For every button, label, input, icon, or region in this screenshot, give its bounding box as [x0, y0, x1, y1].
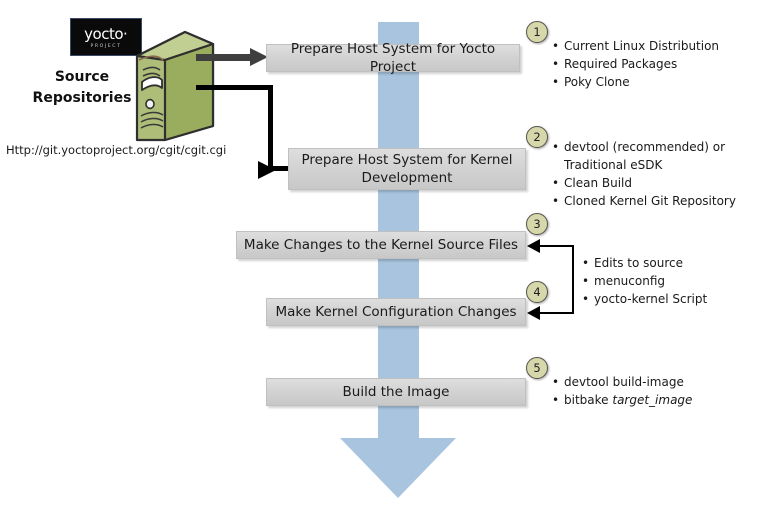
process-box-build-image[interactable]: Build the Image	[266, 378, 526, 406]
arrowhead-box4-icon	[527, 306, 540, 320]
note-command-prefix: bitbake	[564, 393, 612, 407]
flow-arrow-head-icon	[340, 438, 456, 498]
step-circle-5: 5	[526, 357, 548, 379]
notes-step-2: devtool (recommended) or Traditional eSD…	[552, 138, 764, 210]
note-item: Poky Clone	[552, 73, 719, 91]
step-circle-2: 2	[526, 126, 548, 148]
logo-subtitle: PROJECT	[90, 45, 121, 50]
note-item: bitbake target_image	[552, 391, 692, 409]
source-label-line1: Source	[28, 67, 136, 88]
note-item: Required Packages	[552, 55, 719, 73]
step-circle-4: 4	[526, 281, 548, 303]
note-item: devtool build-image	[552, 373, 692, 391]
source-repository-url: Http://git.yoctoproject.org/cgit/cgit.cg…	[6, 143, 226, 157]
process-box-make-source-changes[interactable]: Make Changes to the Kernel Source Files	[236, 231, 526, 259]
connector-server-to-box2-segment1	[196, 85, 273, 90]
process-box-make-config-changes[interactable]: Make Kernel Configuration Changes	[266, 298, 526, 326]
notes-step-3-4: Edits to source menuconfig yocto-kernel …	[582, 254, 707, 308]
notes-step-1: Current Linux Distribution Required Pack…	[552, 37, 719, 91]
notes-step-5: devtool build-image bitbake target_image	[552, 373, 692, 409]
diagram-canvas: yocto · PROJECT Source Repositories Http…	[0, 0, 769, 517]
process-box-prepare-host-yocto[interactable]: Prepare Host System for Yocto Project	[266, 44, 520, 72]
note-item: yocto-kernel Script	[582, 290, 707, 308]
bracket-branch-to-box4	[538, 312, 574, 314]
note-item: Clean Build	[552, 174, 764, 192]
note-item: menuconfig	[582, 272, 707, 290]
arrowhead-box3-icon	[527, 239, 540, 253]
logo-dot-icon: ·	[123, 25, 128, 43]
note-item: Current Linux Distribution	[552, 37, 719, 55]
process-box-prepare-host-kernel[interactable]: Prepare Host System for Kernel Developme…	[288, 148, 526, 190]
step-circle-1: 1	[526, 21, 548, 43]
note-item: Cloned Kernel Git Repository	[552, 192, 764, 210]
step-circle-3: 3	[526, 213, 548, 235]
yocto-project-logo: yocto · PROJECT	[70, 18, 142, 56]
connector-server-to-box1	[196, 54, 254, 61]
source-repositories-label: Source Repositories	[28, 67, 136, 109]
note-command-variable: target_image	[612, 393, 692, 407]
note-item: Edits to source	[582, 254, 707, 272]
logo-wordmark: yocto	[84, 27, 123, 42]
bracket-branch-to-box3	[538, 245, 574, 247]
bracket-vertical-3-4	[572, 245, 574, 314]
source-label-line2: Repositories	[28, 88, 136, 109]
note-item: devtool (recommended) or Traditional eSD…	[552, 138, 764, 174]
arrowhead-box2-icon	[258, 161, 276, 179]
connector-server-to-box2-segment2	[268, 85, 273, 170]
